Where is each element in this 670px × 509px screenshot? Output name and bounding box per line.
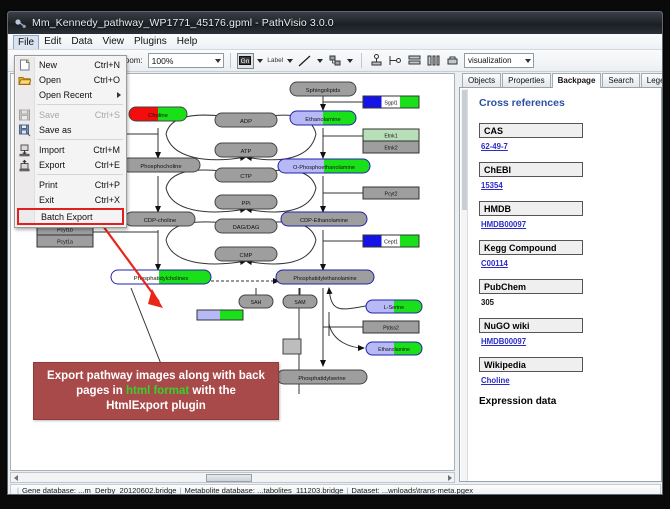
svg-text:O-Phosphoethanolamine: O-Phosphoethanolamine bbox=[293, 165, 355, 171]
xref-header-wikipedia: Wikipedia bbox=[479, 357, 583, 372]
xref-value-cas: 62-49-7 bbox=[481, 142, 661, 151]
backpage-scroll-thumb[interactable] bbox=[462, 90, 467, 210]
annotation-line-2-post: with the bbox=[189, 385, 236, 397]
xref-header-kegg: Kegg Compound bbox=[479, 240, 583, 255]
open-folder-icon bbox=[18, 73, 31, 86]
backpage-scrollbar[interactable] bbox=[461, 89, 468, 481]
xref-value-hmdb: HMDB00097 bbox=[481, 220, 661, 229]
xref-link-cas[interactable]: 62-49-7 bbox=[481, 142, 508, 151]
visualization-value: visualization bbox=[468, 56, 512, 65]
label-tool-button[interactable]: Label bbox=[267, 53, 284, 69]
line-tool-button[interactable] bbox=[297, 53, 314, 69]
save-disk-icon bbox=[18, 108, 31, 121]
group-icon[interactable] bbox=[444, 53, 461, 69]
file-menu-item-export[interactable]: Export Ctrl+E bbox=[15, 157, 126, 172]
file-menu-label-print: Print bbox=[39, 180, 58, 190]
tab-properties[interactable]: Properties bbox=[502, 73, 550, 87]
tab-objects[interactable]: Objects bbox=[462, 73, 501, 87]
xref-value-pubchem: 305 bbox=[481, 298, 661, 307]
status-gene-db-label: Gene database: bbox=[22, 486, 76, 495]
svg-text:Pcyt2: Pcyt2 bbox=[385, 192, 398, 198]
file-menu-item-open[interactable]: Open Ctrl+O bbox=[15, 72, 126, 87]
new-file-icon bbox=[18, 58, 31, 71]
svg-text:Gn: Gn bbox=[241, 58, 250, 65]
file-menu-label-import: Import bbox=[39, 145, 65, 155]
status-separator-1: | bbox=[180, 486, 182, 495]
xref-header-pubchem: PubChem bbox=[479, 279, 583, 294]
xref-value-kegg: C00114 bbox=[481, 259, 661, 268]
file-menu-label-batch-export: Batch Export bbox=[41, 212, 93, 222]
file-menu-item-print[interactable]: Print Ctrl+P bbox=[15, 177, 126, 192]
toolbar-separator-2 bbox=[361, 53, 362, 68]
status-separator-2: | bbox=[346, 486, 348, 495]
tab-legend[interactable]: Legend bbox=[641, 73, 663, 87]
svg-text:Ethanolamine: Ethanolamine bbox=[378, 347, 410, 353]
menu-plugins[interactable]: Plugins bbox=[129, 34, 172, 49]
file-menu-accel-save: Ctrl+S bbox=[95, 110, 120, 120]
xref-link-chebi[interactable]: 15354 bbox=[481, 181, 503, 190]
svg-text:Etnk2: Etnk2 bbox=[384, 146, 397, 152]
svg-text:Sphingolipids: Sphingolipids bbox=[306, 88, 341, 94]
svg-text:CDP-choline: CDP-choline bbox=[144, 218, 177, 224]
zoom-combo[interactable]: 100% bbox=[148, 53, 224, 68]
file-menu-separator-3 bbox=[37, 174, 123, 175]
pathvisio-window: Mm_Kennedy_pathway_WP1771_45176.gpml - P… bbox=[7, 11, 663, 495]
file-menu-label-exit: Exit bbox=[39, 195, 54, 205]
file-menu-label-save-as: Save as bbox=[39, 125, 72, 135]
file-menu-item-import[interactable]: Import Ctrl+M bbox=[15, 142, 126, 157]
svg-text:CDP-Ethanolamine: CDP-Ethanolamine bbox=[300, 218, 348, 224]
svg-text:ADP: ADP bbox=[240, 119, 252, 125]
file-menu-label-new: New bbox=[39, 60, 57, 70]
shape-tool-button[interactable] bbox=[327, 53, 344, 69]
annotation-line-2-pre: pages in bbox=[76, 385, 126, 397]
svg-text:Choline: Choline bbox=[148, 113, 168, 119]
svg-text:SAH: SAH bbox=[251, 300, 262, 306]
shape-dropdown[interactable] bbox=[346, 53, 355, 69]
status-separator-0: | bbox=[17, 486, 19, 495]
file-menu-label-save: Save bbox=[39, 110, 60, 120]
cross-references-heading: Cross references bbox=[479, 97, 661, 109]
menu-help[interactable]: Help bbox=[172, 34, 203, 49]
pathvisio-icon bbox=[14, 17, 27, 30]
svg-text:Phosphatidylserine: Phosphatidylserine bbox=[298, 376, 345, 382]
line-dropdown[interactable] bbox=[316, 53, 325, 69]
tab-backpage[interactable]: Backpage bbox=[552, 73, 602, 88]
file-menu-accel-print: Ctrl+P bbox=[95, 180, 120, 190]
file-menu-separator-2 bbox=[37, 139, 123, 140]
annotation-line-3: HtmlExport plugin bbox=[106, 399, 206, 414]
visualization-combo[interactable]: visualization bbox=[464, 53, 534, 68]
status-metabolite-db-label: Metabolite database: bbox=[185, 486, 256, 495]
menu-bar: File Edit Data View Plugins Help bbox=[8, 34, 662, 50]
xref-link-nugo[interactable]: HMDB00097 bbox=[481, 337, 526, 346]
file-menu-accel-export: Ctrl+E bbox=[95, 160, 120, 170]
side-panel: Objects Properties Backpage Search Legen… bbox=[459, 73, 662, 482]
xref-header-chebi: ChEBI bbox=[479, 162, 583, 177]
xref-value-wikipedia: Choline bbox=[481, 376, 661, 385]
svg-text:Pcyt1a: Pcyt1a bbox=[57, 240, 73, 246]
file-menu-dropdown[interactable]: New Ctrl+N Open Ctrl+O Open Recent bbox=[14, 55, 127, 228]
file-menu-item-exit[interactable]: Exit Ctrl+X bbox=[15, 192, 126, 207]
svg-text:Pcyt1b: Pcyt1b bbox=[57, 228, 73, 234]
chevron-down-icon bbox=[215, 59, 221, 63]
toolbar-separator bbox=[230, 53, 231, 68]
file-menu-label-export: Export bbox=[39, 160, 65, 170]
svg-text:Sgpl1: Sgpl1 bbox=[384, 101, 397, 107]
title-bar: Mm_Kennedy_pathway_WP1771_45176.gpml - P… bbox=[8, 12, 662, 34]
svg-text:CMP: CMP bbox=[240, 253, 253, 259]
file-menu-item-save[interactable]: Save Ctrl+S bbox=[15, 107, 126, 122]
xref-link-hmdb[interactable]: HMDB00097 bbox=[481, 220, 526, 229]
tab-search[interactable]: Search bbox=[602, 73, 639, 87]
distribute-horizontal-icon[interactable] bbox=[425, 53, 442, 69]
svg-text:DAG/DAG: DAG/DAG bbox=[233, 225, 260, 231]
annotation-highlight: html format bbox=[126, 385, 189, 397]
svg-text:Cept1: Cept1 bbox=[384, 240, 398, 246]
file-menu-item-save-as[interactable]: Save as bbox=[15, 122, 126, 137]
stack-vertical-icon[interactable] bbox=[406, 53, 423, 69]
file-menu-accel-import: Ctrl+M bbox=[93, 145, 120, 155]
file-menu-accel-exit: Ctrl+X bbox=[95, 195, 120, 205]
status-dataset-label: Dataset: bbox=[351, 486, 379, 495]
scroll-right-button[interactable] bbox=[445, 473, 454, 482]
file-menu-accel-open: Ctrl+O bbox=[94, 75, 120, 85]
svg-text:Phosphocholine: Phosphocholine bbox=[140, 164, 181, 170]
svg-text:ATP: ATP bbox=[241, 149, 252, 155]
menu-view[interactable]: View bbox=[97, 34, 129, 49]
import-icon bbox=[18, 143, 31, 156]
expression-data-heading: Expression data bbox=[479, 396, 661, 407]
xref-header-hmdb: HMDB bbox=[479, 201, 583, 216]
menu-file[interactable]: File bbox=[13, 35, 39, 49]
menu-data[interactable]: Data bbox=[66, 34, 97, 49]
xref-value-nugo: HMDB00097 bbox=[481, 337, 661, 346]
svg-text:CTP: CTP bbox=[240, 174, 252, 180]
scroll-thumb[interactable] bbox=[206, 474, 252, 482]
datanode-tool-button[interactable]: Gn bbox=[237, 53, 254, 69]
side-panel-tabs: Objects Properties Backpage Search Legen… bbox=[459, 73, 662, 88]
status-metabolite-db-value: ...tabolites_111203.bridge bbox=[257, 486, 343, 495]
window-title: Mm_Kennedy_pathway_WP1771_45176.gpml - P… bbox=[32, 17, 334, 29]
annotation-line-1: Export pathway images along with back bbox=[47, 369, 265, 384]
xref-link-kegg[interactable]: C00114 bbox=[481, 259, 508, 268]
submenu-arrow-icon bbox=[117, 92, 121, 98]
status-dataset-value: ...wnloads\trans-meta.pgex bbox=[382, 486, 473, 495]
align-left-icon[interactable] bbox=[387, 53, 404, 69]
save-as-icon bbox=[18, 123, 31, 136]
status-bar: | Gene database: ...m_Derby_20120602.bri… bbox=[10, 484, 661, 495]
datanode-dropdown[interactable] bbox=[256, 53, 265, 69]
xref-header-cas: CAS bbox=[479, 123, 583, 138]
scroll-left-button[interactable] bbox=[11, 473, 20, 482]
svg-text:Phosphatidylethanolamine: Phosphatidylethanolamine bbox=[293, 276, 356, 282]
svg-text:Ptdss2: Ptdss2 bbox=[383, 326, 399, 332]
xref-link-wikipedia[interactable]: Choline bbox=[481, 376, 510, 385]
file-menu-accel-new: Ctrl+N bbox=[94, 60, 120, 70]
label-dropdown[interactable] bbox=[286, 53, 295, 69]
svg-text:L-Serine: L-Serine bbox=[384, 305, 404, 311]
label-tool-text: Label bbox=[267, 57, 283, 64]
svg-text:Ethanolamine: Ethanolamine bbox=[305, 117, 340, 123]
status-gene-db-value: ...m_Derby_20120602.bridge bbox=[78, 486, 176, 495]
export-icon bbox=[18, 158, 31, 171]
xref-header-nugo: NuGO wiki bbox=[479, 318, 583, 333]
annotation-callout: Export pathway images along with back pa… bbox=[33, 362, 279, 420]
backpage-content: Cross references CAS 62-49-7 ChEBI 15354… bbox=[459, 88, 662, 482]
file-menu-item-batch-export[interactable]: Batch Export bbox=[17, 208, 124, 225]
chevron-down-icon bbox=[525, 59, 531, 63]
svg-text:PPi: PPi bbox=[241, 201, 250, 207]
svg-text:Etnk1: Etnk1 bbox=[384, 134, 397, 140]
xref-value-chebi: 15354 bbox=[481, 181, 661, 190]
svg-text:SAM: SAM bbox=[294, 300, 305, 306]
screenshot-frame: Mm_Kennedy_pathway_WP1771_45176.gpml - P… bbox=[0, 0, 670, 509]
annotation-line-2: pages in html format with the bbox=[76, 384, 236, 399]
file-menu-label-open: Open bbox=[39, 75, 61, 85]
file-menu-label-open-recent: Open Recent bbox=[39, 90, 92, 100]
file-menu-item-new[interactable]: New Ctrl+N bbox=[15, 57, 126, 72]
menu-edit[interactable]: Edit bbox=[39, 34, 66, 49]
file-menu-item-open-recent[interactable]: Open Recent bbox=[15, 87, 126, 102]
file-menu-separator-1 bbox=[37, 104, 123, 105]
zoom-value: 100% bbox=[152, 56, 174, 66]
align-top-icon[interactable] bbox=[368, 53, 385, 69]
canvas-horizontal-scrollbar[interactable] bbox=[10, 472, 455, 483]
